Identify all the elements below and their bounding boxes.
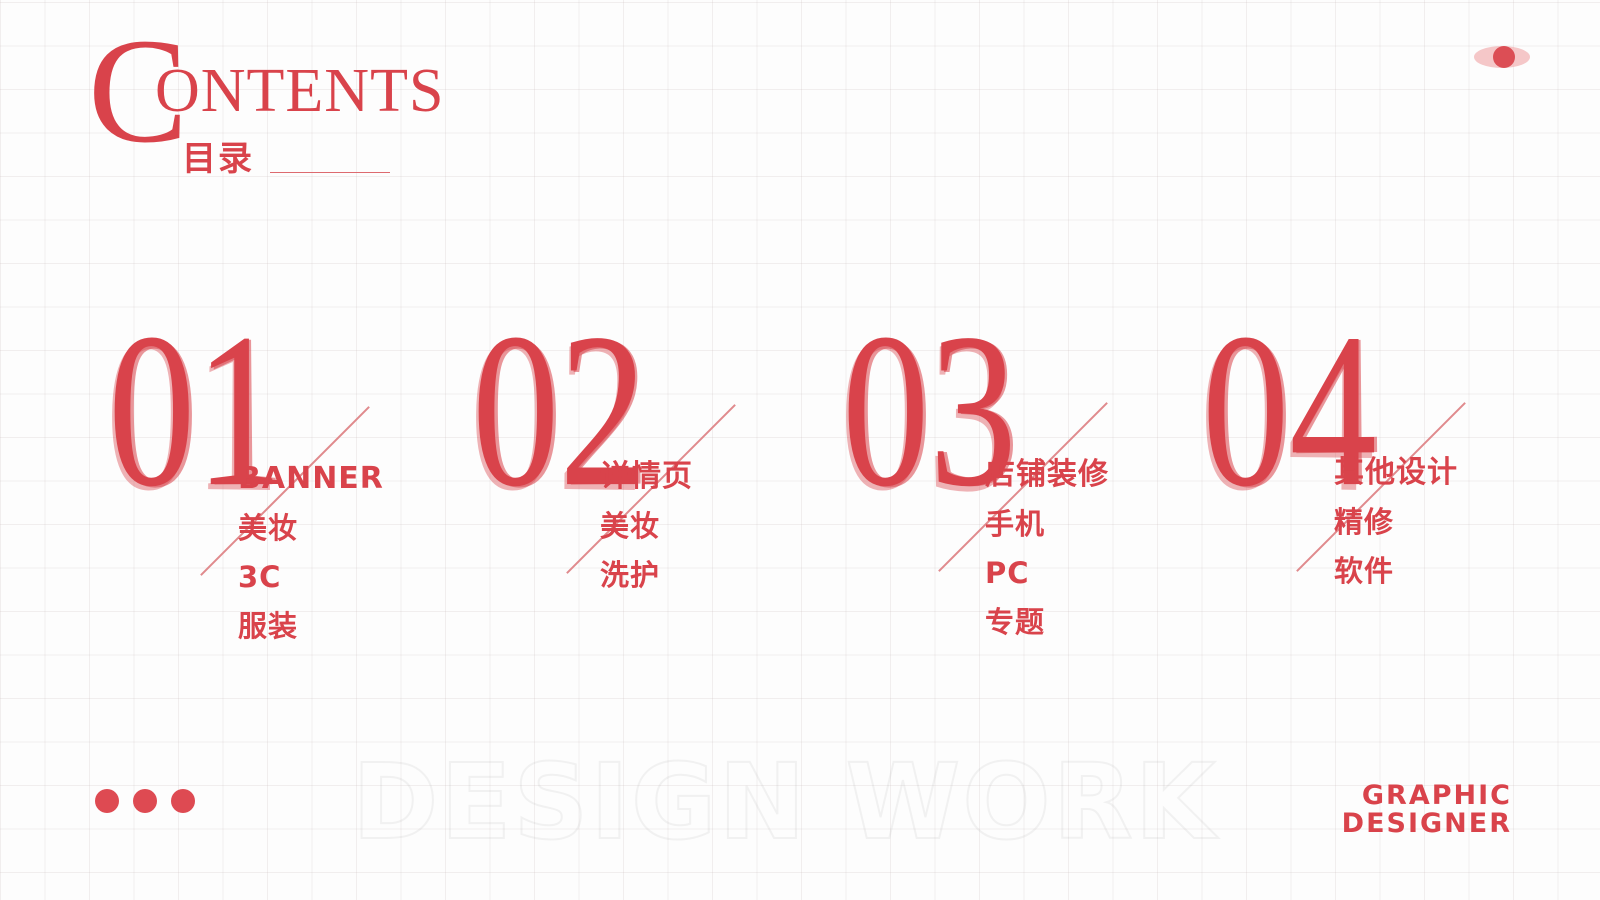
page-subtitle: 目录 <box>182 142 254 176</box>
page-title: ONTENTS <box>155 60 444 122</box>
dot-shape <box>95 789 119 813</box>
section-item-list: 其他设计 精修 软件 <box>1334 458 1458 605</box>
subtitle-rule <box>270 172 390 173</box>
dot-shape <box>171 789 195 813</box>
section-item-list: 店铺装修 手机 PC 专题 <box>985 460 1109 656</box>
list-item[interactable]: 服装 <box>238 611 384 641</box>
three-dots-icon <box>95 789 195 813</box>
section-item-list: BANNER 美妆 3C 服装 <box>238 464 384 660</box>
brand-logo-line2: DESIGNER <box>1342 810 1512 838</box>
section-03[interactable]: 03 03 03 店铺装修 手机 PC 专题 <box>842 324 1202 654</box>
list-item[interactable]: 软件 <box>1334 556 1458 586</box>
section-heading[interactable]: 其他设计 <box>1334 458 1458 488</box>
dot-shape <box>133 789 157 813</box>
section-heading[interactable]: 详情页 <box>600 462 693 492</box>
list-item[interactable]: 精修 <box>1334 507 1458 537</box>
section-item-list: 详情页 美妆 洗护 <box>600 462 693 609</box>
section-02[interactable]: 02 02 02 详情页 美妆 洗护 <box>472 324 832 654</box>
section-04[interactable]: 04 04 04 其他设计 精修 软件 <box>1202 324 1562 654</box>
list-item[interactable]: 洗护 <box>600 560 693 590</box>
list-item[interactable]: 3C <box>238 562 384 592</box>
list-item[interactable]: 美妆 <box>600 511 693 541</box>
section-heading[interactable]: BANNER <box>238 464 384 494</box>
page-title-block: C ONTENTS 目录 <box>88 38 648 168</box>
section-01[interactable]: 01 01 01 BANNER 美妆 3C 服装 <box>108 324 468 654</box>
list-item[interactable]: 专题 <box>985 607 1109 637</box>
eye-icon <box>1474 46 1530 68</box>
list-item[interactable]: 美妆 <box>238 513 384 543</box>
section-heading[interactable]: 店铺装修 <box>985 460 1109 490</box>
section-number-01: 01 01 01 <box>108 324 408 484</box>
brand-logo-line1: GRAPHIC <box>1342 782 1512 810</box>
list-item[interactable]: PC <box>985 558 1109 588</box>
eye-pupil-shape <box>1493 46 1515 68</box>
list-item[interactable]: 手机 <box>985 509 1109 539</box>
watermark-text: DESIGN WORK <box>352 752 1217 852</box>
brand-logo: GRAPHIC DESIGNER <box>1342 782 1512 838</box>
contents-slide: C ONTENTS 目录 01 01 01 BANNER 美妆 3C 服装 02… <box>0 0 1600 900</box>
